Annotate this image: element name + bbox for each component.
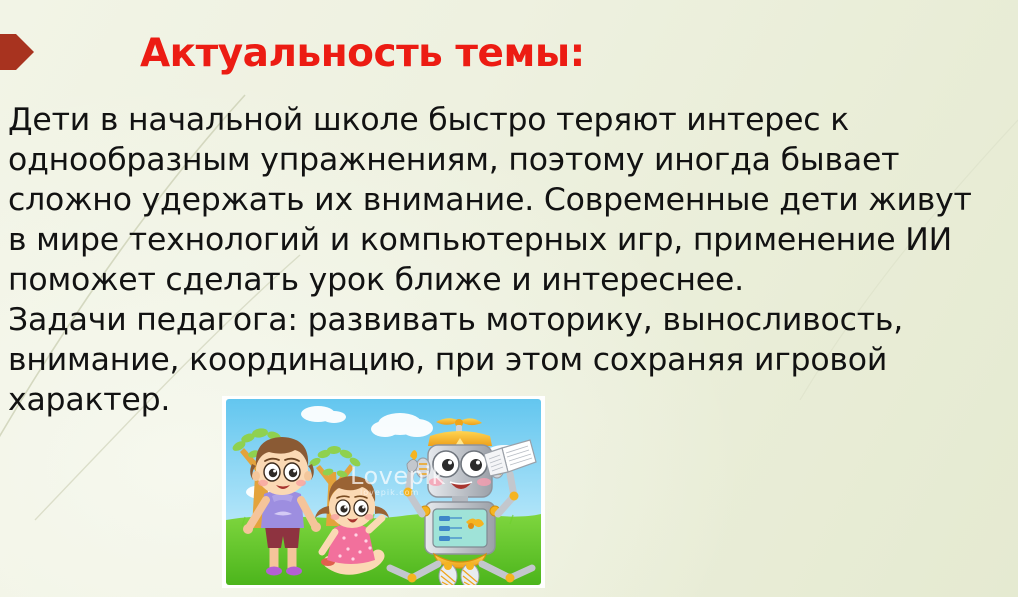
body-line: сложно удержать их внимание. Современные… — [8, 180, 1018, 220]
body-line: в мире технологий и компьютерных игр, пр… — [8, 220, 1018, 260]
body-line: Дети в начальной школе быстро теряют инт… — [8, 100, 1018, 140]
illustration-children-and-robot: Lovepik lovepik.com — [222, 396, 545, 588]
body-line: внимание, координацию, при этом сохраняя… — [8, 340, 1018, 380]
body-line: однообразным упражнениям, поэтому иногда… — [8, 140, 1018, 180]
slide-body-text: Дети в начальной школе быстро теряют инт… — [8, 100, 1018, 420]
illustration-artwork — [222, 396, 545, 588]
body-line: поможет сделать урок ближе и интереснее. — [8, 260, 1018, 300]
title-arrow-bullet-icon — [0, 31, 34, 73]
slide-title: Актуальность темы: — [140, 32, 585, 76]
body-line: Задачи педагога: развивать моторику, вын… — [8, 300, 1018, 340]
presentation-slide: Актуальность темы: Дети в начальной школ… — [0, 0, 1018, 597]
